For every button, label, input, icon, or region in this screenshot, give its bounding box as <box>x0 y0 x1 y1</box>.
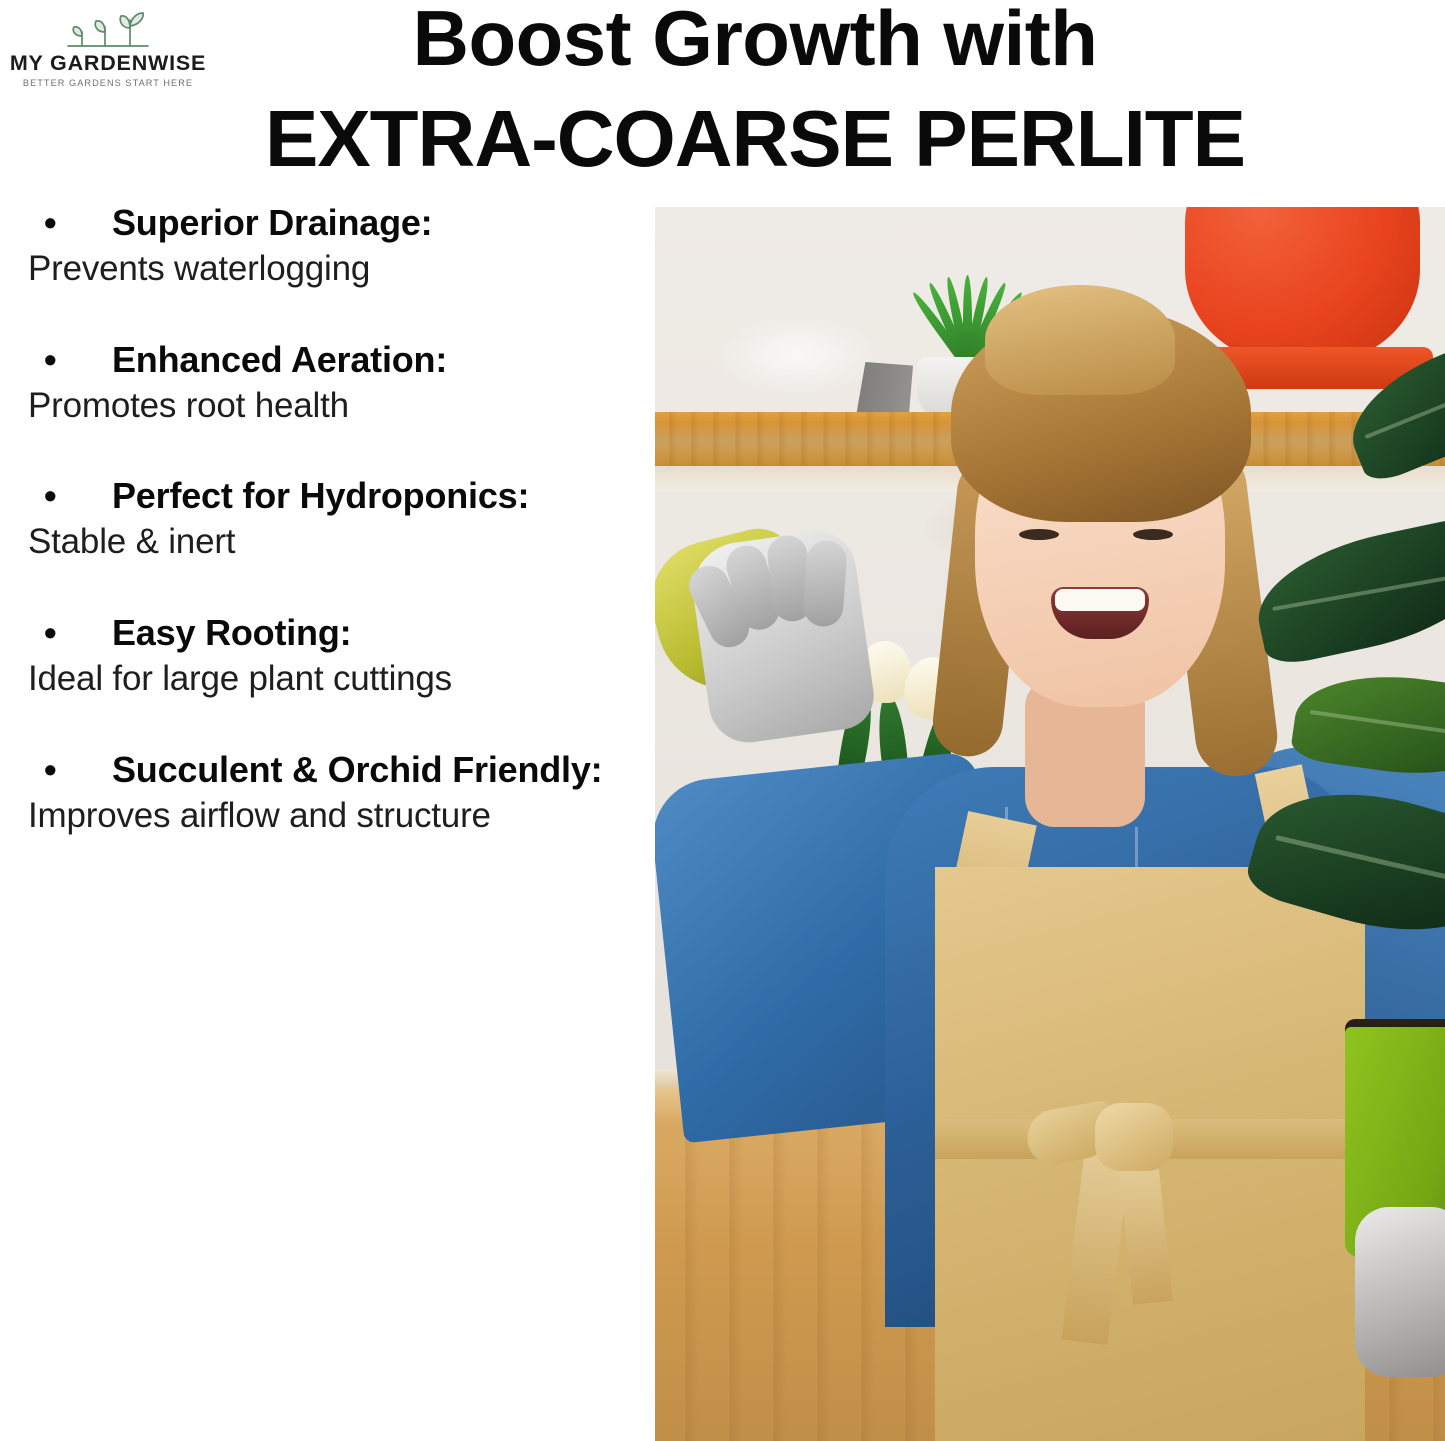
hair-top <box>985 285 1175 395</box>
brand-name: MY GARDENWISE <box>8 53 208 75</box>
benefit-desc: Improves airflow and structure <box>0 793 650 840</box>
benefit-desc: Ideal for large plant cuttings <box>0 656 650 703</box>
benefit-title: •Superior Drainage: <box>0 200 650 246</box>
benefit-title: •Easy Rooting: <box>0 610 650 656</box>
list-item: •Superior Drainage: Prevents waterloggin… <box>0 200 650 293</box>
spacer <box>0 566 650 610</box>
spacer <box>0 703 650 747</box>
apron-knot <box>1095 1103 1173 1171</box>
list-item: •Easy Rooting: Ideal for large plant cut… <box>0 610 650 703</box>
brand-tagline: BETTER GARDENS START HERE <box>8 78 208 88</box>
benefit-desc: Prevents waterlogging <box>0 246 650 293</box>
bullet-icon: • <box>78 747 112 793</box>
brand-logo: MY GARDENWISE BETTER GARDENS START HERE <box>8 6 208 88</box>
bullet-icon: • <box>78 200 112 246</box>
orange-pot <box>1185 207 1420 364</box>
teeth <box>1055 589 1145 611</box>
benefit-title: •Succulent & Orchid Friendly: <box>0 747 650 793</box>
benefits-list: •Superior Drainage: Prevents waterloggin… <box>0 200 650 839</box>
product-lifestyle-photo <box>655 207 1445 1441</box>
headline-line-1: Boost Growth with <box>200 0 1310 77</box>
list-item: •Perfect for Hydroponics: Stable & inert <box>0 473 650 566</box>
bullet-icon: • <box>78 473 112 519</box>
benefit-title: •Enhanced Aeration: <box>0 337 650 383</box>
benefit-desc: Stable & inert <box>0 519 650 566</box>
list-item: •Succulent & Orchid Friendly: Improves a… <box>0 747 650 840</box>
list-item: •Enhanced Aeration: Promotes root health <box>0 337 650 430</box>
benefit-desc: Promotes root health <box>0 383 650 430</box>
spacer <box>0 293 650 337</box>
gardening-glove-right <box>1355 1207 1445 1377</box>
page-title: Boost Growth with EXTRA-COARSE PERLITE <box>200 0 1310 178</box>
bullet-icon: • <box>78 610 112 656</box>
gardening-glove-left <box>687 526 878 747</box>
bullet-icon: • <box>78 337 112 383</box>
headline-line-2: EXTRA-COARSE PERLITE <box>200 99 1310 178</box>
three-seedlings-icon <box>48 6 168 52</box>
spacer <box>0 429 650 473</box>
benefit-title: •Perfect for Hydroponics: <box>0 473 650 519</box>
